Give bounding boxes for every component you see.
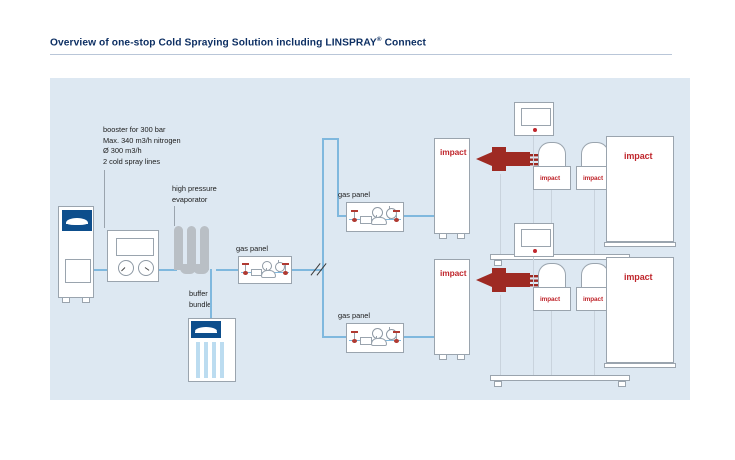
booster-annotation: booster for 300 bar Max. 340 m3/h nitrog…: [103, 125, 181, 167]
impact-large-cabinet-upper[interactable]: impact: [606, 136, 674, 242]
impact-large-cabinet-lower-base: [604, 363, 676, 368]
high-pressure-evaporator: [174, 226, 220, 288]
workbench-lower: [490, 375, 630, 381]
gas-panel-line-2[interactable]: [346, 323, 404, 353]
spray-gun-upper-icon: [476, 144, 538, 174]
diagram-canvas: booster for 300 bar Max. 340 m3/h nitrog…: [50, 78, 690, 400]
booster-annotation-line-2: Max. 340 m3/h nitrogen: [103, 136, 181, 147]
buffer-annotation-line-2: bundle: [189, 300, 211, 311]
booth-upper-2-label: impact: [583, 175, 603, 182]
booth-lower-2-label: impact: [583, 296, 603, 303]
buffer-bundle[interactable]: [188, 318, 236, 382]
buffer-annotation-line-1: buffer: [189, 289, 211, 300]
monitor-lower-post: [533, 257, 534, 375]
control-monitor-lower-indicator: [533, 249, 537, 253]
booth-lower-1-dome: [538, 263, 566, 289]
booth-lower-1[interactable]: impact: [533, 287, 571, 311]
pipe-riser-to-gas-panel-1: [322, 138, 338, 140]
booster-gauge-left: [118, 260, 134, 276]
evaporator-annotation-line-2: evaporator: [172, 195, 217, 206]
tank-foot-right: [82, 298, 90, 303]
booth-upper-1[interactable]: impact: [533, 166, 571, 190]
title-text-after: Connect: [382, 37, 426, 48]
impact-large-cabinet-upper-base: [604, 242, 676, 247]
booster-annotation-line-4: 2 cold spray lines: [103, 157, 181, 168]
impact-cabinet-upper-label: impact: [440, 147, 466, 157]
buffer-cylinder-1: [196, 342, 200, 378]
impact-cabinet-lower-label: impact: [440, 268, 466, 278]
evaporator-leader-line: [174, 206, 175, 226]
spray-gun-lower-post: [500, 295, 501, 375]
evaporator-bend-2: [193, 264, 209, 274]
buffer-linde-logo-icon: [191, 321, 221, 338]
booth-lower-1-post: [551, 311, 552, 375]
booster-annotation-line-1: booster for 300 bar: [103, 125, 181, 136]
booster-unit[interactable]: [107, 230, 159, 282]
title-text-before: Overview of one-stop Cold Spraying Solut…: [50, 37, 377, 48]
pipe-into-gas-panel-2: [322, 336, 347, 338]
buffer-cylinder-4: [220, 342, 224, 378]
impact-cabinet-lower-foot-left: [439, 355, 447, 360]
buffer-annotation: buffer bundle: [189, 289, 211, 310]
impact-cabinet-lower-foot-right: [457, 355, 465, 360]
workbench-lower-leg-right: [618, 381, 626, 387]
gas-panel-line-1[interactable]: [346, 202, 404, 232]
booth-lower-1-label: impact: [540, 296, 560, 303]
booth-upper-1-label: impact: [540, 175, 560, 182]
impact-large-cabinet-lower-label: impact: [624, 272, 652, 282]
impact-cabinet-lower[interactable]: impact: [434, 259, 470, 355]
spray-gun-upper-post: [500, 174, 501, 254]
control-monitor-lower[interactable]: [514, 223, 554, 257]
tank-access-panel: [65, 259, 91, 283]
booster-gauge-right: [138, 260, 154, 276]
title-bar: Overview of one-stop Cold Spraying Solut…: [50, 36, 672, 48]
booster-leader-line: [104, 170, 105, 228]
spray-gun-lower-icon: [476, 265, 538, 295]
control-monitor-upper-indicator: [533, 128, 537, 132]
evaporator-annotation: high pressure evaporator: [172, 184, 217, 205]
impact-large-cabinet-upper-label: impact: [624, 151, 652, 161]
buffer-cylinder-2: [204, 342, 208, 378]
gas-panel-line-1-label: gas panel: [338, 190, 370, 201]
control-monitor-upper[interactable]: [514, 102, 554, 136]
tank-foot-left: [62, 298, 70, 303]
page-title: Overview of one-stop Cold Spraying Solut…: [50, 36, 672, 48]
pipe-break-symbol: [310, 261, 332, 279]
workbench-lower-leg-left: [494, 381, 502, 387]
gas-panel-main-label: gas panel: [236, 244, 268, 255]
nitrogen-tank[interactable]: [58, 206, 94, 298]
booth-upper-1-dome: [538, 142, 566, 168]
impact-large-cabinet-lower[interactable]: impact: [606, 257, 674, 363]
control-monitor-lower-screen: [521, 229, 551, 247]
title-divider: [50, 54, 672, 55]
impact-cabinet-upper-foot-right: [457, 234, 465, 239]
pipe-drop-to-gas-panel-2: [322, 297, 324, 337]
linde-logo-icon: [62, 210, 92, 231]
evaporator-annotation-line-1: high pressure: [172, 184, 217, 195]
booster-display: [116, 238, 154, 256]
booth-lower-2-dome: [581, 263, 609, 289]
pipe-gas-panel-2-to-impact-2: [402, 336, 434, 338]
buffer-cylinder-3: [212, 342, 216, 378]
booth-upper-2-post: [594, 190, 595, 254]
booth-lower-2-post: [594, 311, 595, 375]
pipe-tank-to-booster: [94, 269, 108, 271]
gas-panel-line-2-label: gas panel: [338, 311, 370, 322]
booster-annotation-line-3: Ø 300 m3/h: [103, 146, 181, 157]
gas-panel-main[interactable]: [238, 256, 292, 284]
impact-cabinet-upper-foot-left: [439, 234, 447, 239]
pipe-gas-panel-1-to-impact-1: [402, 215, 434, 217]
impact-cabinet-upper[interactable]: impact: [434, 138, 470, 234]
diagram-page: Overview of one-stop Cold Spraying Solut…: [0, 0, 735, 460]
booth-upper-2-dome: [581, 142, 609, 168]
pipe-drop-to-gas-panel-1: [337, 138, 339, 216]
control-monitor-upper-screen: [521, 108, 551, 126]
